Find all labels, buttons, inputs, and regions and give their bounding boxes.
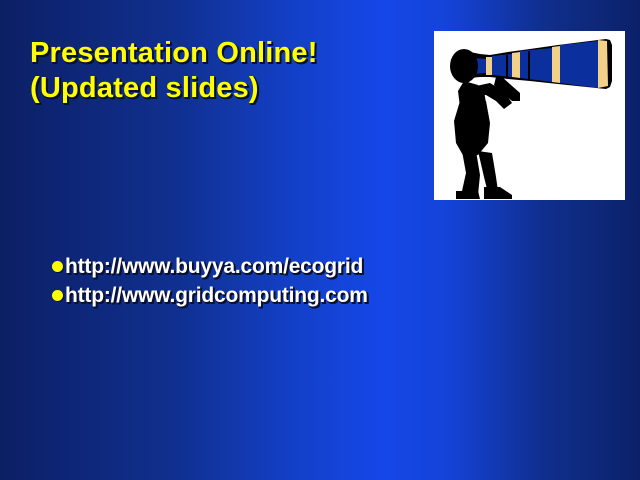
title-line-1: Presentation Online! xyxy=(30,36,420,71)
clipart-panel xyxy=(434,31,625,200)
bullet-circle-icon xyxy=(52,290,63,301)
slide-title: Presentation Online! (Updated slides) xyxy=(30,36,420,106)
list-item: http://www.buyya.com/ecogrid xyxy=(52,252,472,281)
bullet-list: http://www.buyya.com/ecogrid http://www.… xyxy=(52,252,472,310)
telescope-segment-2 xyxy=(492,54,512,77)
telescope-segment-4 xyxy=(560,41,598,88)
telescope-seam xyxy=(506,55,508,77)
telescope-band-2 xyxy=(512,52,520,78)
list-item: http://www.gridcomputing.com xyxy=(52,281,472,310)
telescope-band-3 xyxy=(552,46,560,83)
person-foot-back xyxy=(456,191,480,199)
person-head xyxy=(450,49,478,83)
telescope-clipart-icon xyxy=(434,31,625,200)
telescope-seam xyxy=(528,51,530,80)
telescope-band-1 xyxy=(486,57,492,75)
telescope-segment-3 xyxy=(520,48,552,82)
bullet-link-text[interactable]: http://www.gridcomputing.com xyxy=(65,284,368,308)
bullet-circle-icon xyxy=(52,261,63,272)
person-foot-front xyxy=(484,187,512,199)
bullet-link-text[interactable]: http://www.buyya.com/ecogrid xyxy=(65,255,363,279)
presentation-slide: Presentation Online! (Updated slides) ht… xyxy=(0,0,640,480)
title-line-2: (Updated slides) xyxy=(30,71,420,106)
person-leg-front xyxy=(478,151,498,193)
person-torso xyxy=(454,101,490,157)
telescope-band-4 xyxy=(598,40,608,88)
person-leg-back xyxy=(462,151,480,197)
